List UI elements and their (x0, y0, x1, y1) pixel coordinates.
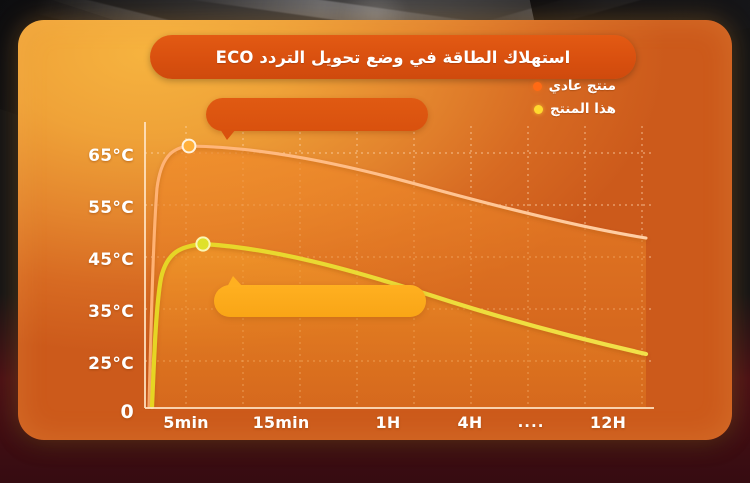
chart-card: استهلاك الطاقة في وضع تحويل التردد ECO م… (18, 20, 732, 440)
top-callout[interactable] (206, 98, 428, 131)
bottom-callout-text (214, 285, 426, 317)
screenshot-stage: استهلاك الطاقة في وضع تحويل التردد ECO م… (0, 0, 750, 483)
x-tick-ellipsis: .... (518, 413, 545, 431)
top-callout-tail-icon (220, 129, 236, 140)
y-tick-65: 65°C (64, 146, 134, 166)
chart-legend: منتج عادي هذا المنتج (533, 78, 616, 117)
legend-item-ours: هذا المنتج (534, 101, 616, 117)
x-tick-15min: 15min (253, 413, 310, 432)
y-tick-35: 35°C (64, 302, 134, 322)
legend-dot-ours-icon (534, 105, 543, 114)
x-tick-1h: 1H (376, 413, 401, 432)
x-axis-labels: 5min 15min 1H 4H .... 12H (18, 413, 732, 440)
legend-item-normal: منتج عادي (533, 78, 616, 94)
y-tick-25: 25°C (64, 354, 134, 374)
chart-plot-area (143, 120, 656, 410)
chart-title-banner: استهلاك الطاقة في وضع تحويل التردد ECO (150, 35, 636, 79)
series-normal-peak-marker (183, 140, 196, 153)
series-ours-peak-marker (196, 237, 209, 250)
bottom-callout[interactable] (214, 285, 426, 317)
bottom-callout-tail-icon (227, 276, 243, 287)
x-tick-5min: 5min (163, 413, 208, 432)
legend-label-normal: منتج عادي (549, 78, 616, 94)
top-callout-text (206, 98, 428, 131)
x-tick-4h: 4H (458, 413, 483, 432)
y-axis-labels: 65°C 55°C 45°C 35°C 25°C 0 (64, 20, 134, 440)
legend-label-ours: هذا المنتج (550, 101, 616, 117)
x-tick-12h: 12H (590, 413, 626, 432)
page-title: استهلاك الطاقة في وضع تحويل التردد ECO (216, 48, 571, 67)
legend-dot-normal-icon (533, 82, 542, 91)
y-tick-55: 55°C (64, 198, 134, 218)
y-tick-45: 45°C (64, 250, 134, 270)
